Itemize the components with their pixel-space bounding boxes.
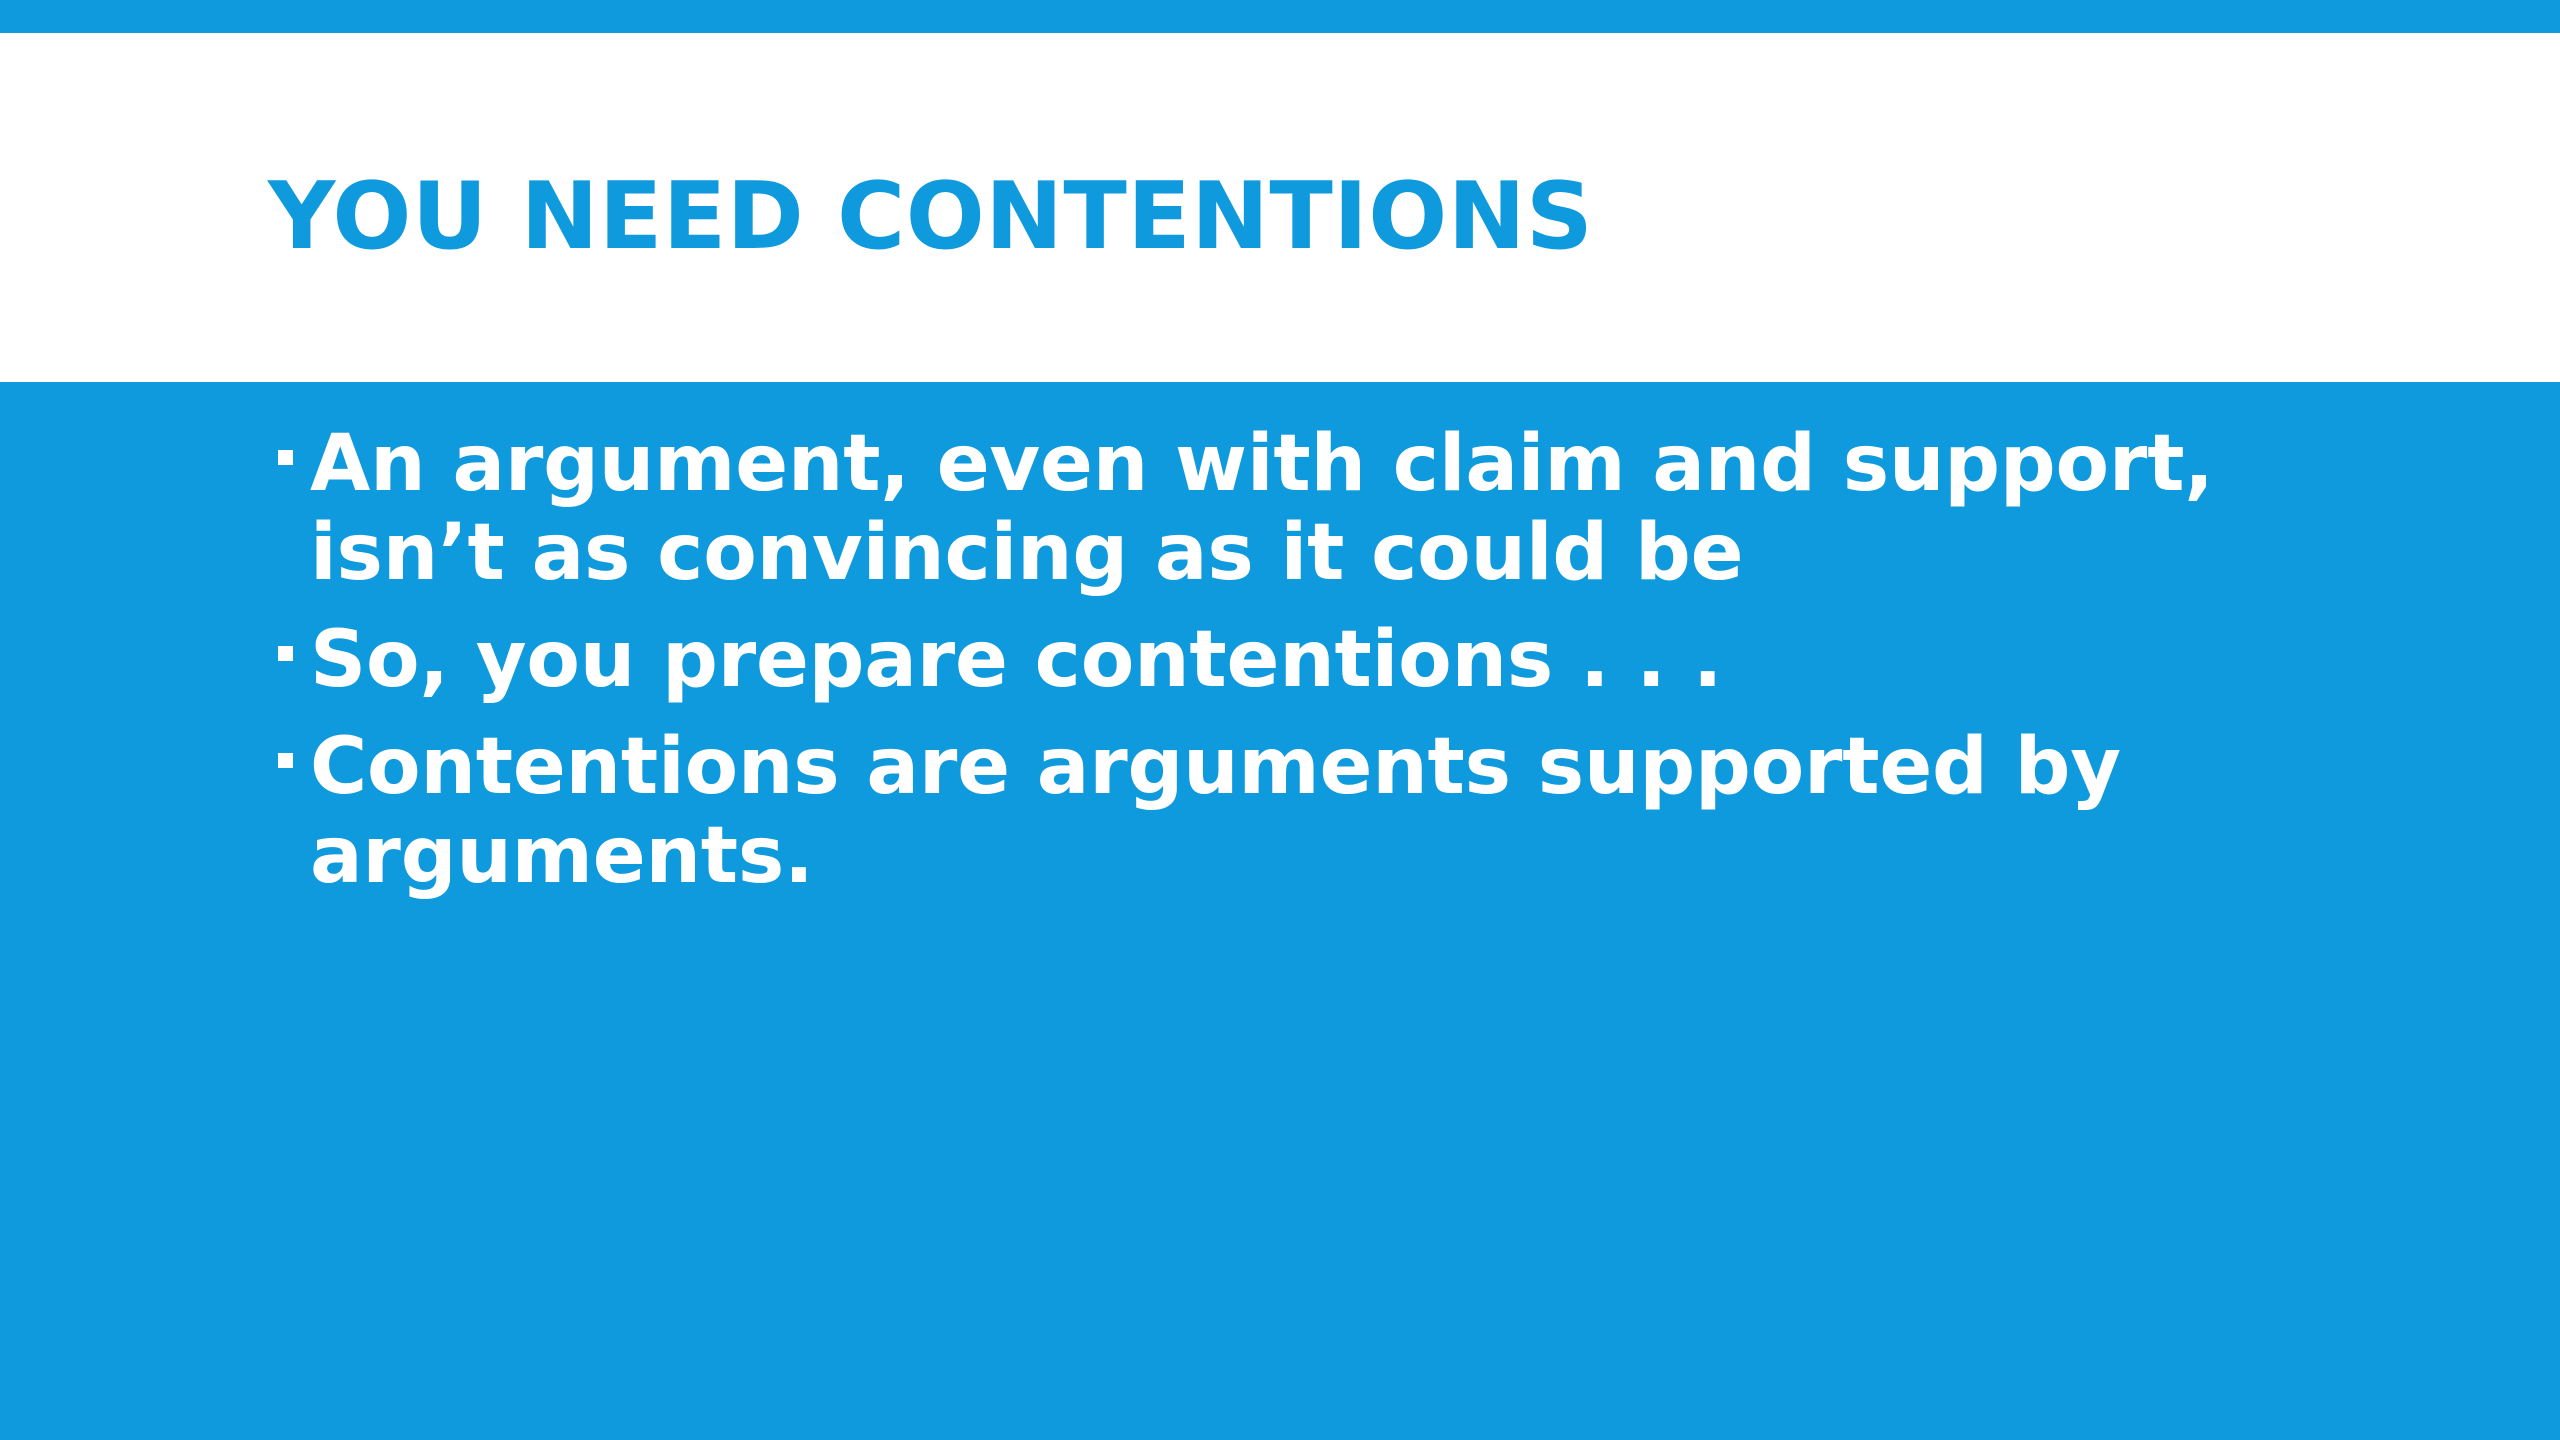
slide: You Need Contentions An argument, even w… — [0, 0, 2560, 1440]
square-bullet-icon — [278, 753, 293, 768]
list-item-label: An argument, even with claim and support… — [310, 420, 2412, 598]
list-item: So, you prepare contentions . . . — [272, 616, 2412, 705]
list-item-label: Contentions are arguments supported by a… — [310, 723, 2412, 901]
slide-body: An argument, even with claim and support… — [0, 382, 2560, 1440]
square-bullet-icon — [278, 450, 293, 465]
list-item: Contentions are arguments supported by a… — [272, 723, 2412, 901]
page-title: You Need Contentions — [268, 168, 1593, 266]
list-item: An argument, even with claim and support… — [272, 420, 2412, 598]
list-item-label: So, you prepare contentions . . . — [310, 616, 2412, 705]
title-band: You Need Contentions — [0, 33, 2560, 382]
top-accent-bar — [0, 0, 2560, 33]
bullet-list: An argument, even with claim and support… — [272, 420, 2412, 901]
square-bullet-icon — [278, 646, 293, 661]
